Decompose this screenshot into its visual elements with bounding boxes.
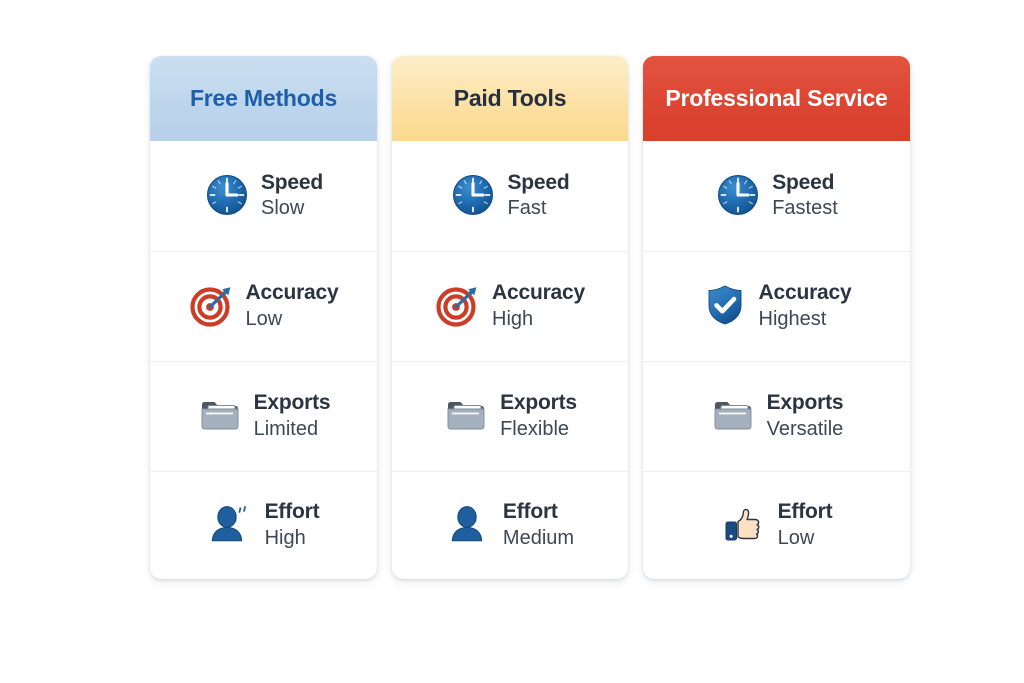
feature-label: Effort	[503, 500, 574, 524]
folder-icon	[443, 392, 489, 438]
feature-value: Medium	[503, 525, 574, 552]
feature-value: Limited	[254, 416, 331, 443]
person-icon	[446, 501, 492, 547]
feature-value: Fast	[507, 195, 569, 222]
feature-label: Accuracy	[246, 281, 339, 305]
feature-label: Effort	[778, 500, 833, 524]
clock-icon	[450, 172, 496, 218]
folder-icon	[710, 392, 756, 438]
card-paid-tools[interactable]: Paid Tools	[392, 56, 628, 579]
feature-rows-free: Speed Slow	[150, 141, 377, 579]
feature-value: Low	[246, 306, 339, 333]
card-free-methods[interactable]: Free Methods	[150, 56, 377, 579]
feature-label: Accuracy	[759, 281, 852, 305]
feature-label: Exports	[767, 391, 844, 415]
card-header-paid-tools: Paid Tools	[392, 56, 628, 141]
feature-row[interactable]: Effort Medium	[392, 471, 628, 579]
feature-value: High	[265, 525, 320, 552]
feature-row[interactable]: Speed Fastest	[643, 141, 910, 251]
feature-row[interactable]: Exports Versatile	[643, 361, 910, 471]
shield-check-icon	[702, 282, 748, 328]
clock-icon	[204, 172, 250, 218]
comparison-board: Free Methods	[0, 0, 1024, 683]
target-icon	[435, 282, 481, 328]
feature-row[interactable]: Effort High	[150, 471, 377, 579]
feature-row[interactable]: Exports Limited	[150, 361, 377, 471]
feature-value: Fastest	[772, 195, 838, 222]
feature-value: High	[492, 306, 585, 333]
feature-label: Accuracy	[492, 281, 585, 305]
folder-icon	[197, 392, 243, 438]
feature-label: Exports	[500, 391, 577, 415]
clock-icon	[715, 172, 761, 218]
thumbs-up-icon	[721, 501, 767, 547]
feature-rows-paid: Speed Fast	[392, 141, 628, 579]
feature-value: Versatile	[767, 416, 844, 443]
feature-row[interactable]: Accuracy Highest	[643, 251, 910, 361]
feature-row[interactable]: Accuracy Low	[150, 251, 377, 361]
feature-row[interactable]: Exports Flexible	[392, 361, 628, 471]
feature-label: Speed	[772, 171, 838, 195]
feature-row[interactable]: Accuracy High	[392, 251, 628, 361]
feature-row[interactable]: Speed Slow	[150, 141, 377, 251]
feature-row[interactable]: Speed Fast	[392, 141, 628, 251]
feature-value: Flexible	[500, 416, 577, 443]
card-header-professional-service: Professional Service	[643, 56, 910, 141]
feature-label: Exports	[254, 391, 331, 415]
feature-label: Effort	[265, 500, 320, 524]
feature-label: Speed	[261, 171, 323, 195]
target-icon	[189, 282, 235, 328]
comparison-cards: Free Methods	[150, 56, 910, 579]
feature-row[interactable]: Effort Low	[643, 471, 910, 579]
feature-value: Slow	[261, 195, 323, 222]
person-sweat-icon	[208, 501, 254, 547]
feature-label: Speed	[507, 171, 569, 195]
card-header-free-methods: Free Methods	[150, 56, 377, 141]
feature-rows-pro: Speed Fastest	[643, 141, 910, 579]
card-professional-service[interactable]: Professional Service	[643, 56, 910, 579]
feature-value: Low	[778, 525, 833, 552]
feature-value: Highest	[759, 306, 852, 333]
